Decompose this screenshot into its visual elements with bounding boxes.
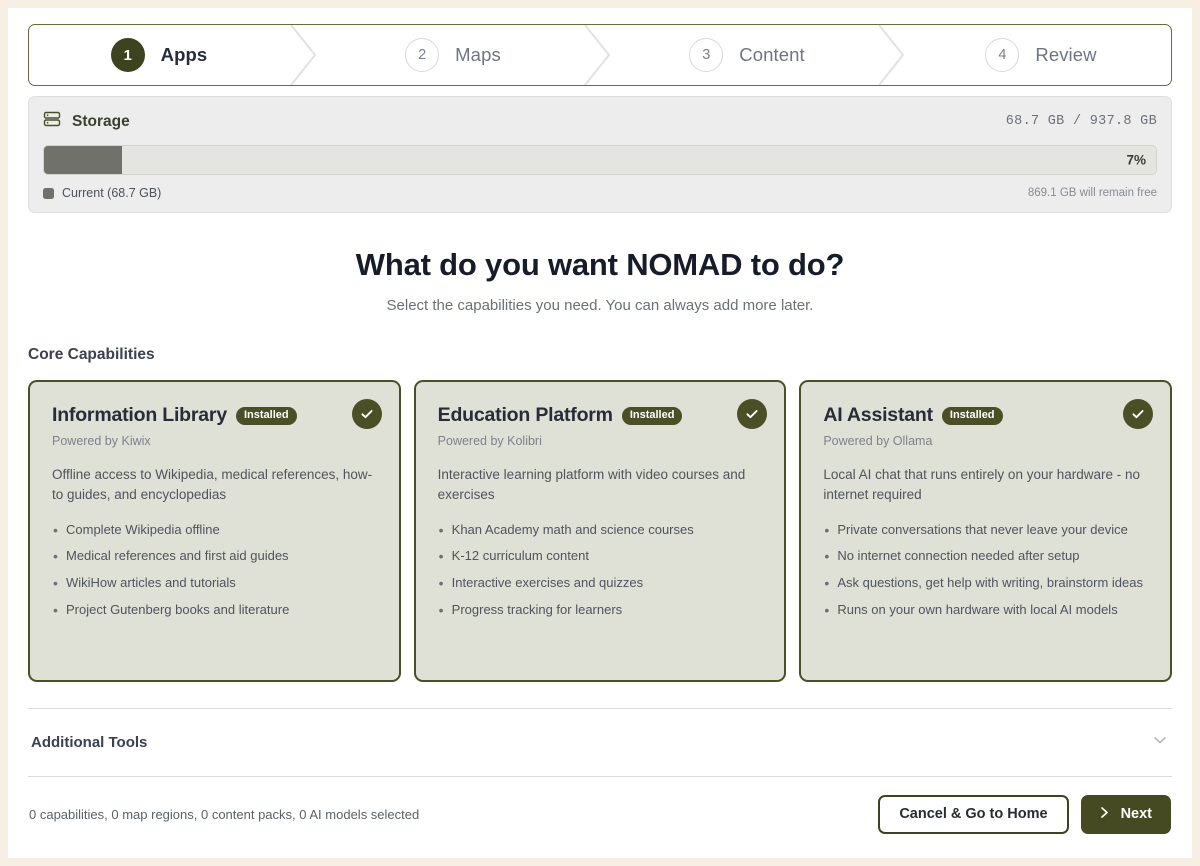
step-apps[interactable]: 1 Apps [29, 25, 289, 85]
card-feature-item: No internet connection needed after setu… [823, 547, 1150, 566]
card-feature-item: Ask questions, get help with writing, br… [823, 574, 1150, 593]
legend-label-current: Current (68.7 GB) [62, 186, 161, 200]
step-content-number: 3 [689, 38, 723, 72]
storage-title-group: Storage [43, 110, 130, 133]
storage-percent-label: 7% [1126, 153, 1146, 168]
card-feature-item: Interactive exercises and quizzes [438, 574, 765, 593]
step-separator-2 [583, 25, 617, 85]
card-title: AI Assistant [823, 404, 933, 427]
next-button-label: Next [1121, 806, 1152, 822]
step-apps-label: Apps [161, 44, 208, 66]
card-description: Interactive learning platform with video… [438, 465, 765, 506]
chevron-down-icon[interactable] [1151, 731, 1169, 754]
additional-tools-accordion[interactable]: Additional Tools [28, 708, 1172, 777]
storage-title: Storage [72, 113, 130, 131]
card-selected-check-icon[interactable] [352, 399, 382, 429]
wizard-stepper: 1 Apps 2 Maps 3 Content 4 Review [28, 24, 1172, 86]
card-title: Education Platform [438, 404, 613, 427]
next-button[interactable]: Next [1081, 795, 1171, 834]
card-feature-item: Private conversations that never leave y… [823, 521, 1150, 540]
cancel-button-label: Cancel & Go to Home [899, 806, 1047, 822]
storage-icon [43, 110, 61, 133]
step-review-label: Review [1035, 44, 1096, 66]
additional-tools-label: Additional Tools [31, 734, 147, 751]
card-feature-item: Khan Academy math and science courses [438, 521, 765, 540]
storage-progress-bar: 7% [43, 145, 1157, 175]
card-feature-list: Complete Wikipedia offline Medical refer… [52, 521, 379, 620]
capability-card-education-platform[interactable]: Education Platform Installed Powered by … [414, 380, 787, 682]
step-separator-3 [877, 25, 911, 85]
capability-card-ai-assistant[interactable]: AI Assistant Installed Powered by Ollama… [799, 380, 1172, 682]
storage-header: Storage 68.7 GB / 937.8 GB [43, 110, 1157, 133]
storage-remaining-text: 869.1 GB will remain free [1028, 187, 1157, 199]
hero-section: What do you want NOMAD to do? Select the… [28, 247, 1172, 314]
step-review[interactable]: 4 Review [911, 25, 1171, 85]
footer-actions: Cancel & Go to Home Next [878, 795, 1171, 834]
storage-panel: Storage 68.7 GB / 937.8 GB 7% Current (6… [28, 96, 1172, 213]
core-capabilities-heading: Core Capabilities [28, 346, 1172, 364]
step-maps-label: Maps [455, 44, 501, 66]
storage-legend: Current (68.7 GB) [43, 186, 161, 200]
step-content[interactable]: 3 Content [617, 25, 877, 85]
card-feature-list: Khan Academy math and science courses K-… [438, 521, 765, 620]
step-apps-number: 1 [111, 38, 145, 72]
card-subtitle: Powered by Kolibri [438, 434, 765, 448]
page-title: What do you want NOMAD to do? [28, 247, 1172, 283]
card-feature-item: Complete Wikipedia offline [52, 521, 379, 540]
card-feature-item: K-12 curriculum content [438, 547, 765, 566]
step-maps-number: 2 [405, 38, 439, 72]
setup-wizard-page: 1 Apps 2 Maps 3 Content 4 Review [8, 8, 1192, 858]
card-header: AI Assistant Installed [823, 404, 1150, 427]
card-feature-item: Project Gutenberg books and literature [52, 601, 379, 620]
wizard-footer: 0 capabilities, 0 map regions, 0 content… [28, 777, 1172, 851]
card-header: Education Platform Installed [438, 404, 765, 427]
card-description: Offline access to Wikipedia, medical ref… [52, 465, 379, 506]
installed-badge: Installed [622, 407, 683, 425]
card-subtitle: Powered by Ollama [823, 434, 1150, 448]
selection-summary: 0 capabilities, 0 map regions, 0 content… [29, 807, 419, 822]
card-subtitle: Powered by Kiwix [52, 434, 379, 448]
card-header: Information Library Installed [52, 404, 379, 427]
capability-card-grid: Information Library Installed Powered by… [28, 380, 1172, 682]
step-review-number: 4 [985, 38, 1019, 72]
card-selected-check-icon[interactable] [1123, 399, 1153, 429]
chevron-right-icon [1097, 805, 1112, 824]
legend-swatch-current [43, 188, 54, 199]
card-title: Information Library [52, 404, 227, 427]
card-feature-list: Private conversations that never leave y… [823, 521, 1150, 620]
step-separator-1 [289, 25, 323, 85]
storage-footer: Current (68.7 GB) 869.1 GB will remain f… [43, 186, 1157, 200]
cancel-button[interactable]: Cancel & Go to Home [878, 795, 1068, 834]
card-description: Local AI chat that runs entirely on your… [823, 465, 1150, 506]
card-feature-item: Runs on your own hardware with local AI … [823, 601, 1150, 620]
step-maps[interactable]: 2 Maps [323, 25, 583, 85]
installed-badge: Installed [942, 407, 1003, 425]
storage-progress-fill [44, 146, 122, 174]
capability-card-information-library[interactable]: Information Library Installed Powered by… [28, 380, 401, 682]
card-feature-item: WikiHow articles and tutorials [52, 574, 379, 593]
card-feature-item: Progress tracking for learners [438, 601, 765, 620]
installed-badge: Installed [236, 407, 297, 425]
storage-total-text: 68.7 GB / 937.8 GB [1006, 114, 1157, 129]
step-content-label: Content [739, 44, 805, 66]
page-subtitle: Select the capabilities you need. You ca… [28, 297, 1172, 314]
card-feature-item: Medical references and first aid guides [52, 547, 379, 566]
